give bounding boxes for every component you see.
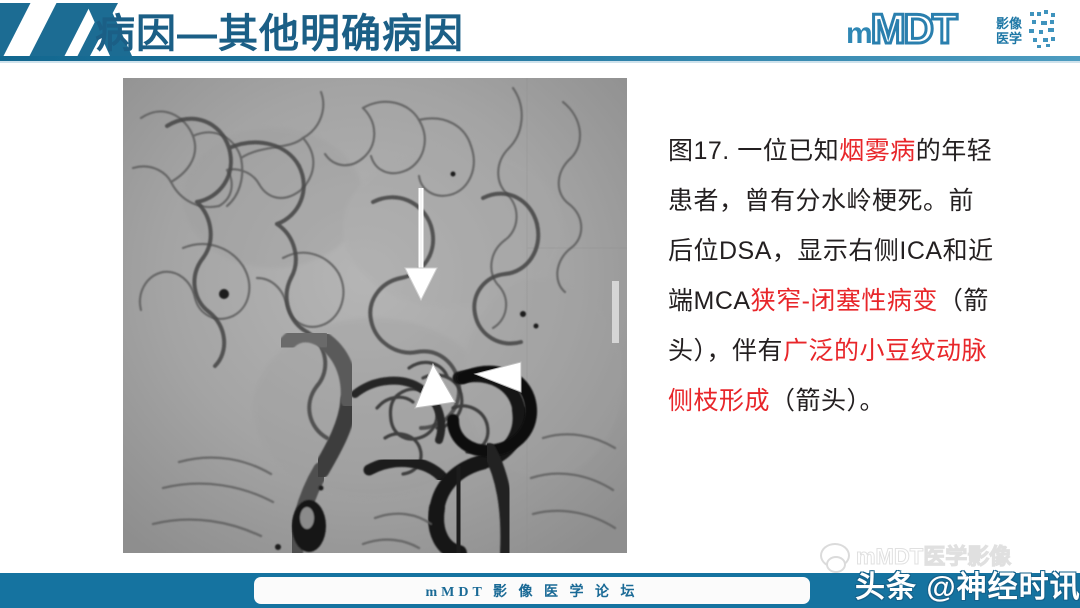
slide-header: 病因—其他明确病因 mMDT 影像 医学 xyxy=(0,0,1080,62)
toutiao-watermark-label: 头条 @神经时讯 xyxy=(855,562,1080,606)
footer-label: mMDT 影 像 医 学 论 坛 xyxy=(425,581,638,601)
caption-run-3: 狭窄-闭塞性病变 xyxy=(751,287,938,315)
caption-run-0: 图17. 一位已知 xyxy=(668,137,839,165)
logo-cn-line2: 医学 xyxy=(996,31,1022,46)
figure-caption: 图17. 一位已知烟雾病的年轻患者，曾有分水岭梗死。前后位DSA，显示右侧ICA… xyxy=(668,126,998,426)
dsa-angiogram-image xyxy=(123,78,627,553)
caption-run-1: 烟雾病 xyxy=(839,137,916,165)
page-title: 病因—其他明确病因 xyxy=(95,3,464,56)
wechat-icon xyxy=(820,543,850,568)
logo-wordmark: mMDT xyxy=(846,6,956,57)
dsa-svg xyxy=(123,78,627,553)
caption-run-6: （箭头）。 xyxy=(770,387,885,415)
logo-pixel-dots xyxy=(1028,10,1058,50)
logo-chinese: 影像 医学 xyxy=(990,15,1028,47)
slide-root: 病因—其他明确病因 mMDT 影像 医学 xyxy=(0,0,1080,608)
logo-prefix: m xyxy=(846,17,871,50)
mmdt-logo: mMDT 影像 医学 xyxy=(846,6,1058,54)
logo-cn-line1: 影像 xyxy=(996,16,1022,31)
footer-plate: mMDT 影 像 医 学 论 坛 xyxy=(254,577,810,604)
logo-main: MDT xyxy=(871,5,956,52)
toutiao-watermark: 头条 @神经时讯 xyxy=(855,564,1080,604)
header-rule-light xyxy=(0,61,1080,63)
